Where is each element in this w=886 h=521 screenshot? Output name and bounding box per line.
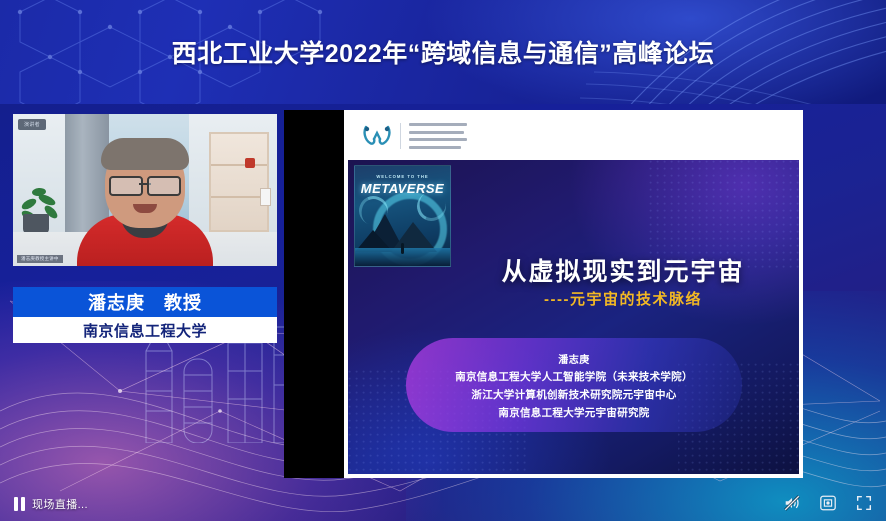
live-status-label: 现场直播... [32, 496, 88, 512]
speaker-figure [77, 142, 213, 266]
volume-muted-icon[interactable] [782, 493, 802, 513]
slide-speaker-affiliation-2: 浙江大学计算机创新技术研究院元宇宙中心 [471, 387, 676, 402]
plant-pot [23, 214, 49, 234]
speaker-name: 潘志庚 教授 [13, 287, 277, 317]
playback-controls-left: 现场直播... [14, 496, 88, 512]
poster-welcome-text: WELCOME TO THE [355, 174, 450, 179]
playback-controls-right [782, 493, 874, 513]
slide-title: 从虚拟现实到元宇宙 [458, 252, 788, 288]
shelf-ornament [245, 158, 255, 168]
slide-subtitle: ----元宇宙的技术脉络 [458, 288, 788, 309]
presentation-letterbox: WELCOME TO THE METAVERSE 从虚拟现实到元宇宙 ----元… [284, 110, 803, 478]
slide-speaker-box: 潘志庚 南京信息工程大学人工智能学院（未来技术学院） 浙江大学计算机创新技术研究… [406, 338, 742, 432]
speaker-nameplate: 潘志庚 教授 南京信息工程大学 [13, 287, 277, 343]
webcam-caption: 潘志庚教授主讲中 [17, 255, 63, 263]
event-header-banner: 西北工业大学2022年“跨域信息与通信”高峰论坛 [0, 0, 886, 104]
poster-title-text: METAVERSE [355, 181, 450, 196]
slide-speaker-affiliation-1: 南京信息工程大学人工智能学院（未来技术学院） [455, 369, 693, 384]
shelf [209, 132, 269, 232]
slide-speaker-name: 潘志庚 [558, 351, 590, 366]
fullscreen-icon[interactable] [854, 493, 874, 513]
speaker-webcam-feed[interactable]: 演讲者 潘志庚教授主讲中 [13, 114, 277, 266]
webcam-badge: 演讲者 [18, 119, 46, 130]
page-title: 西北工业大学2022年“跨域信息与通信”高峰论坛 [0, 0, 886, 104]
wall-panel [260, 188, 271, 206]
pause-icon[interactable] [14, 497, 25, 511]
logo-wordmark [400, 123, 471, 149]
snapshot-icon[interactable] [818, 493, 838, 513]
slide-body: WELCOME TO THE METAVERSE 从虚拟现实到元宇宙 ----元… [348, 160, 799, 474]
live-stream-viewer: 西北工业大学2022年“跨域信息与通信”高峰论坛 [0, 0, 886, 521]
slide-header-strip [348, 114, 799, 160]
slide-speaker-affiliation-3: 南京信息工程大学元宇宙研究院 [498, 405, 649, 420]
nuist-logo-icon [362, 123, 392, 149]
presentation-slide[interactable]: WELCOME TO THE METAVERSE 从虚拟现实到元宇宙 ----元… [348, 114, 799, 474]
speaker-affiliation: 南京信息工程大学 [13, 317, 277, 343]
metaverse-poster-image: WELCOME TO THE METAVERSE [354, 165, 451, 267]
